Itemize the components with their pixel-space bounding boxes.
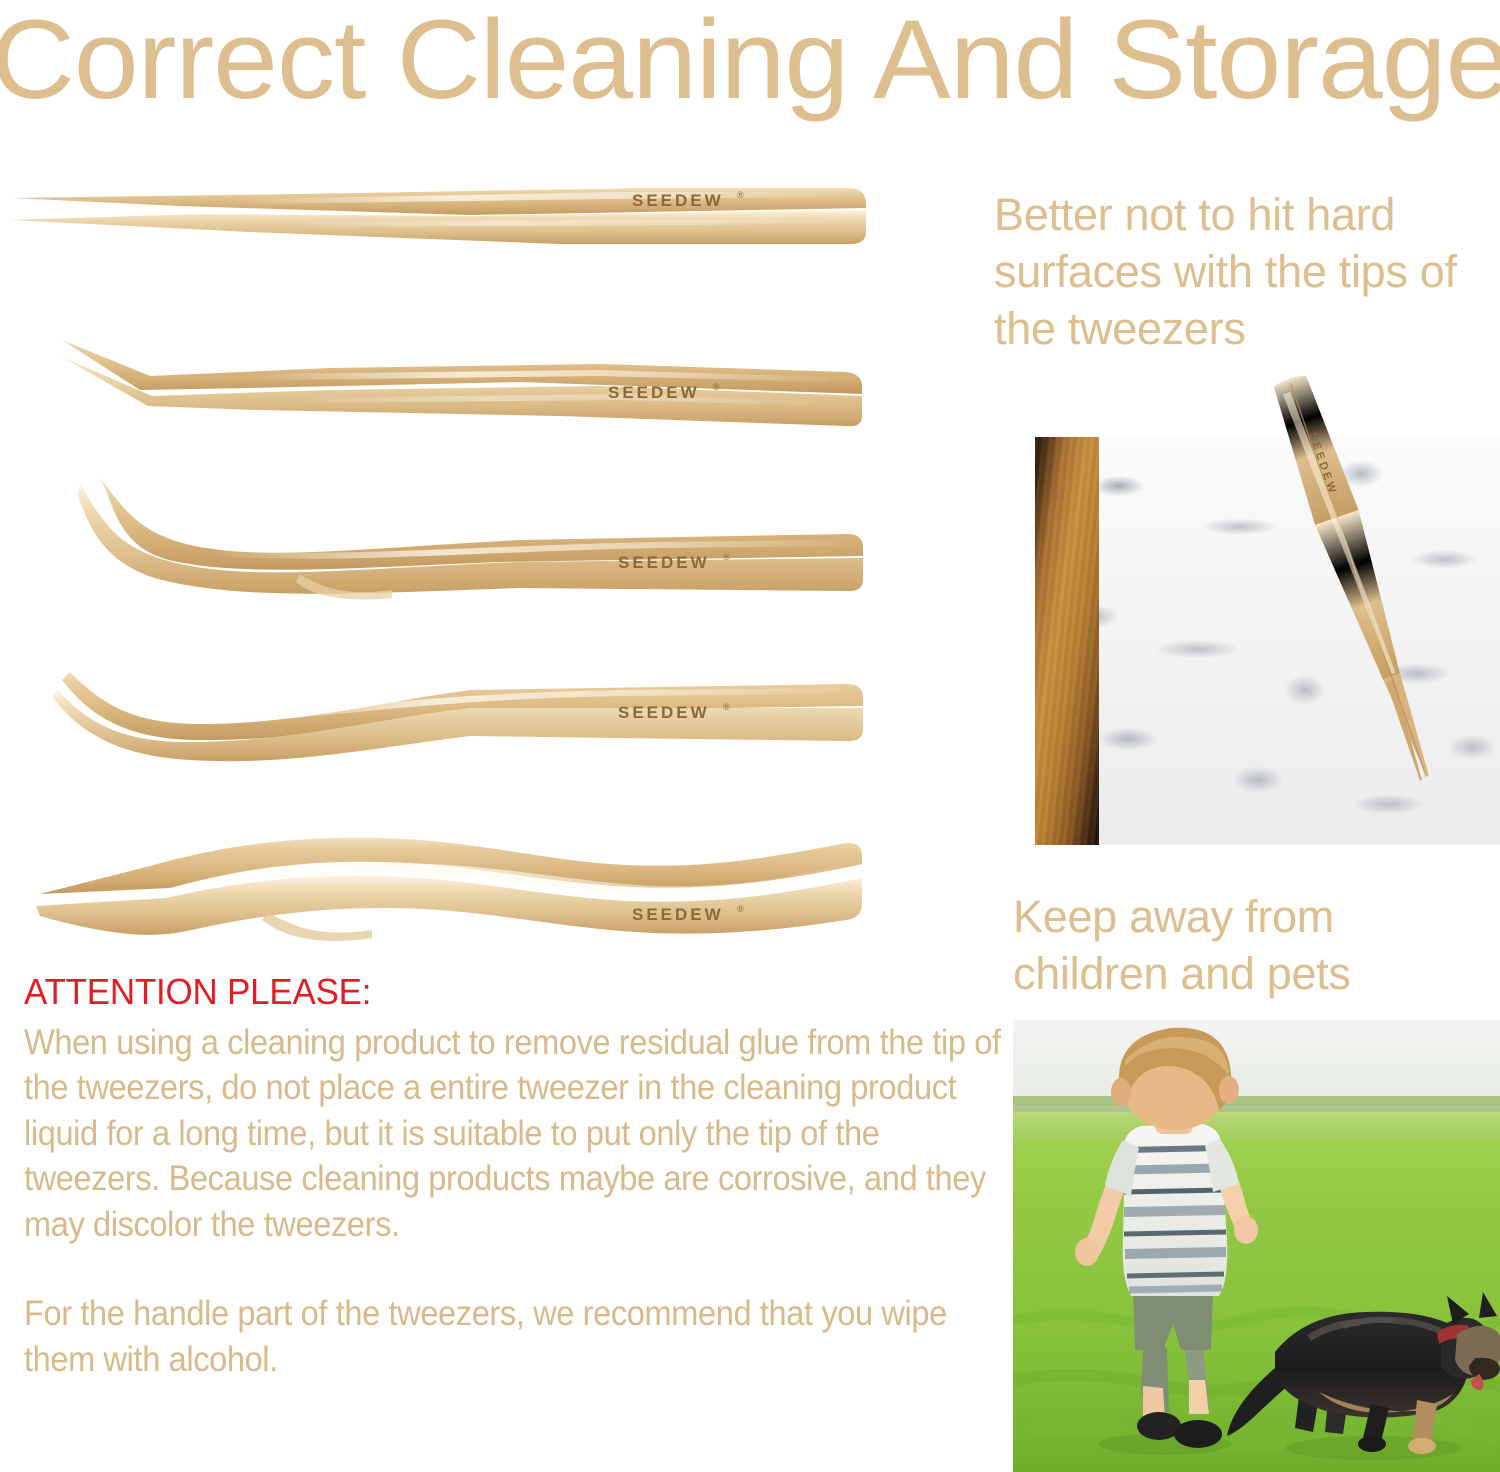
tweezer-straight-point: SEEDEW ® [0,170,900,260]
tweezer-arm-lower [10,210,866,244]
child-right-hand [1234,1216,1258,1244]
brand-engraving: SEEDEW [608,383,700,402]
child-left-ear [1111,1078,1131,1106]
tweezer-boot-s-curve: SEEDEW ® [0,820,900,960]
brand-registered-mark: ® [713,382,720,392]
attention-block: ATTENTION PLEASE: When using a cleaning … [24,972,1014,1382]
tweezer-arm-upper [100,478,863,570]
handle-care-note: For the handle part of the tweezers, we … [24,1291,1014,1382]
tweezer-illustration-group: SEEDEW ® SEEDEW ® SEEDEW ® [0,170,900,960]
brand-engraving: SEEDEW [618,553,710,572]
brand-engraving: SEEDEW [618,703,710,722]
callout-hit-hard-surfaces: Better not to hit hard surfaces with the… [994,186,1500,357]
tweezer-finger-notch [262,912,372,941]
dog-front-paw-near [1358,1436,1386,1452]
child-right-ear [1219,1076,1239,1104]
attention-body-text: When using a cleaning product to remove … [24,1020,1014,1248]
child-left-hand [1075,1238,1099,1266]
tweezer-curved-volume: SEEDEW ® [0,470,900,610]
brand-engraving: SEEDEW [632,905,724,924]
marble-tweezer-object: SEEDEW [1263,364,1453,794]
brand-registered-mark: ® [737,190,744,200]
brand-engraving: SEEDEW [632,191,724,210]
brand-registered-mark: ® [737,904,744,914]
tweezer-angled-45: SEEDEW ® [0,330,900,440]
tweezer-specular [1283,389,1396,678]
scene-content [1013,1020,1500,1472]
child-dog-scene [1013,1020,1500,1472]
photo-child-and-dog [1013,1020,1500,1472]
dog-front-paw-far [1408,1438,1436,1454]
brand-registered-mark: ® [723,702,730,712]
tweezer-fine-curved: SEEDEW ® [0,650,900,780]
attention-heading: ATTENTION PLEASE: [24,972,984,1012]
child-right-shoe [1174,1420,1222,1448]
wooden-board [1035,437,1099,845]
page-title: Correct Cleaning And Storage [0,0,1500,125]
tweezer-arm-upper [62,340,862,394]
tweezer-tip-lower [1386,680,1427,781]
sky [1013,1020,1500,1108]
brand-registered-mark: ® [723,552,730,562]
photo-tweezer-on-marble: SEEDEW [1035,437,1500,845]
callout-keep-away: Keep away from children and pets [1013,888,1500,1002]
